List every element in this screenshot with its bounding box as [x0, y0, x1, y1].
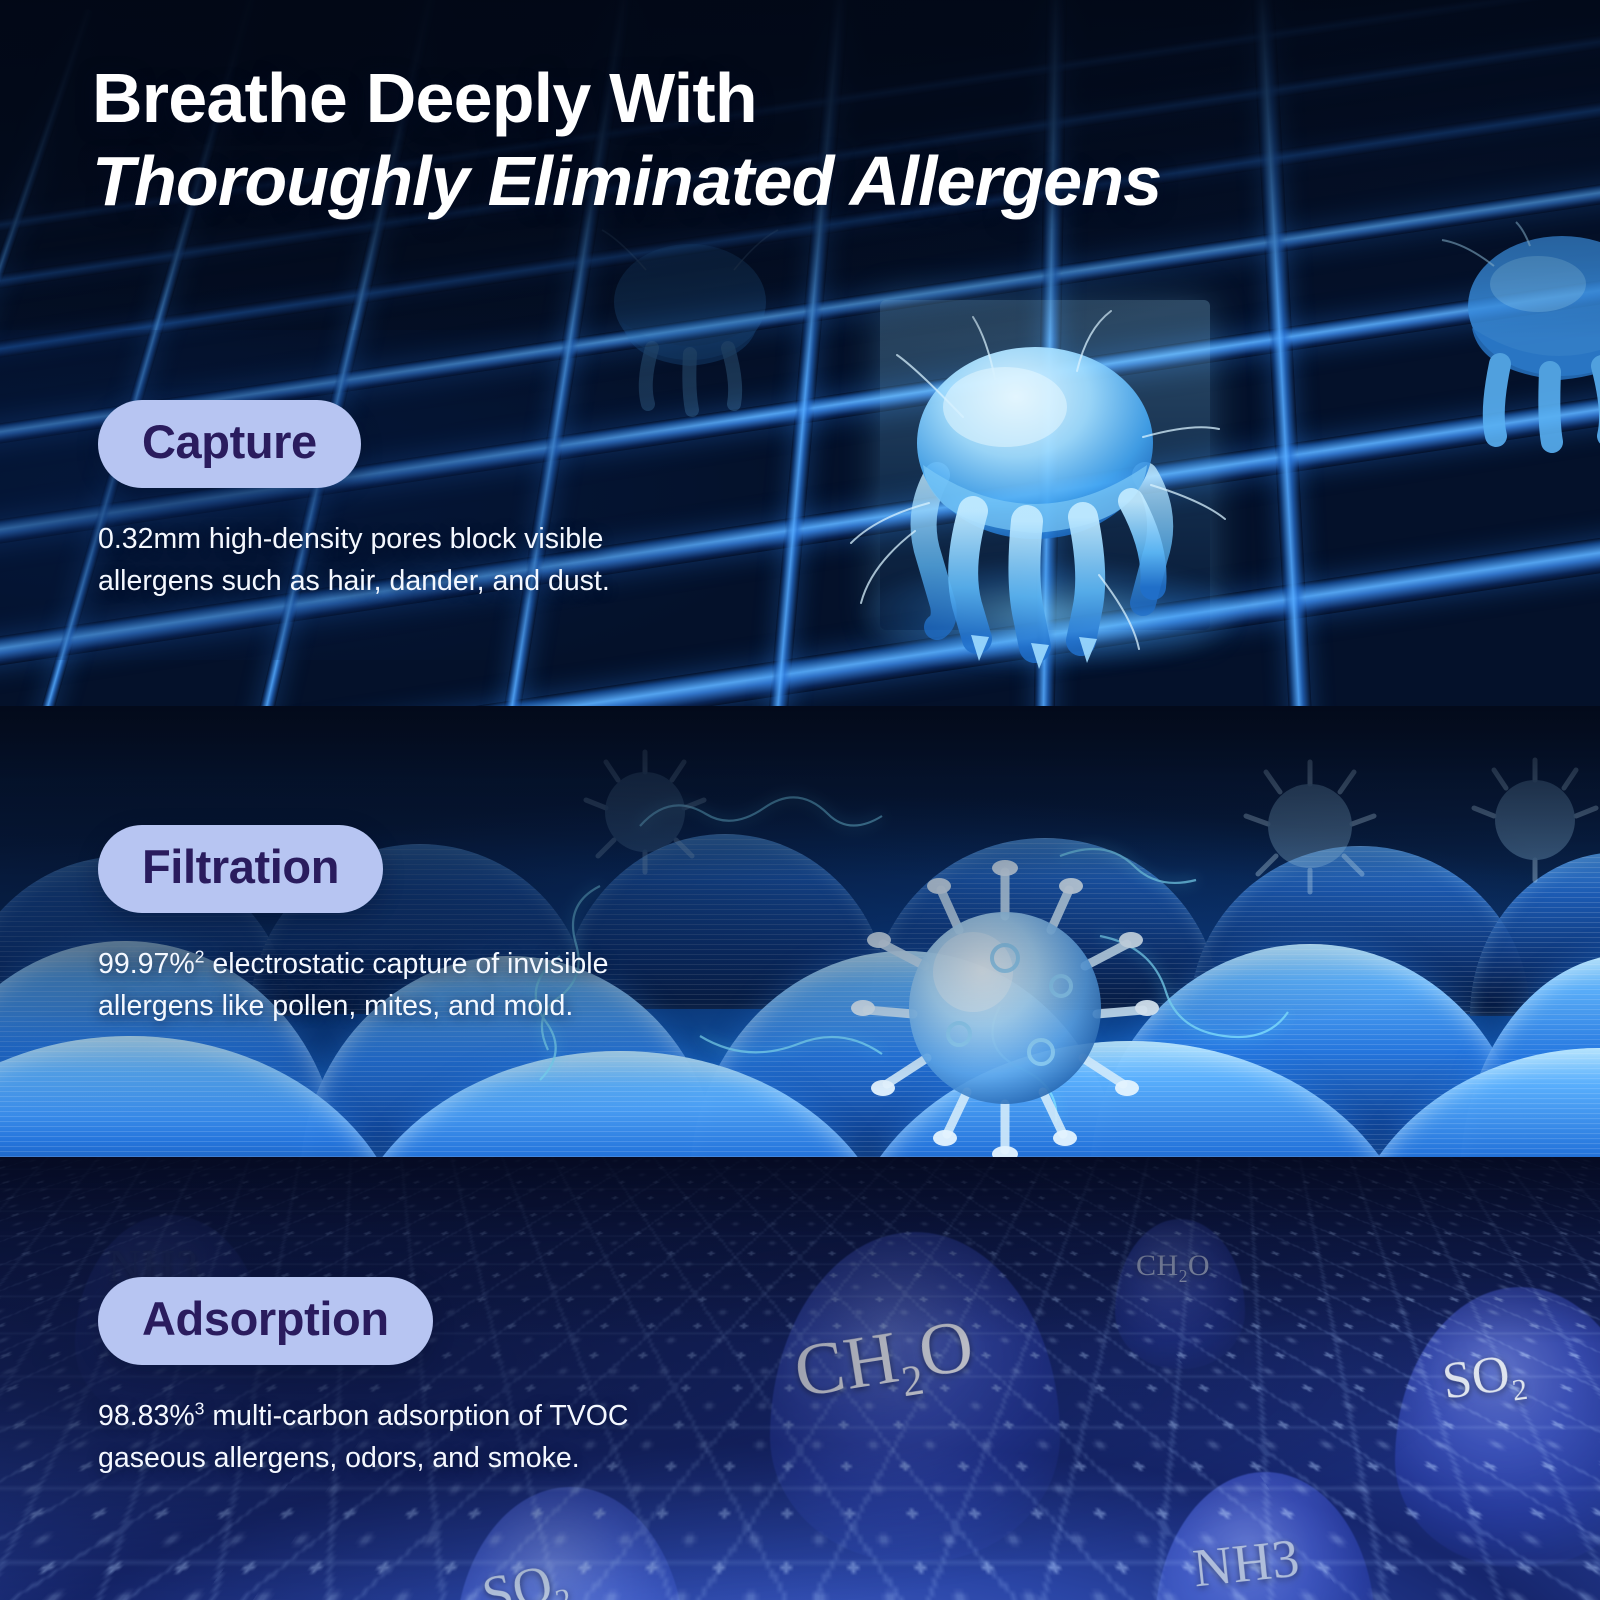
infographic-page: CH2O CH2O SO2 SO2 NH3 NH3 Breathe Deeply…: [0, 0, 1600, 1600]
description-filtration: 99.97%2 electrostatic capture of invisib…: [98, 944, 608, 1027]
description-adsorption-line1: multi-carbon adsorption of TVOC: [205, 1400, 629, 1432]
badge-adsorption: Adsorption: [98, 1277, 433, 1365]
description-filtration-line2: allergens like pollen, mites, and mold.: [98, 990, 573, 1022]
description-adsorption: 98.83%3 multi-carbon adsorption of TVOC …: [98, 1396, 629, 1479]
page-headline: Breathe Deeply With Thoroughly Eliminate…: [92, 62, 1512, 220]
description-capture: 0.32mm high-density pores block visible …: [98, 519, 610, 602]
headline-line-1: Breathe Deeply With: [92, 62, 1512, 134]
feature-capture: Capture 0.32mm high-density pores block …: [98, 400, 610, 602]
feature-filtration: Filtration 99.97%2 electrostatic capture…: [98, 825, 608, 1027]
description-capture-line1: 0.32mm high-density pores block visible: [98, 523, 603, 555]
badge-filtration: Filtration: [98, 825, 383, 913]
adsorption-value: 98.83%: [98, 1400, 195, 1432]
description-filtration-line1: electrostatic capture of invisible: [205, 948, 609, 980]
feature-adsorption: Adsorption 98.83%3 multi-carbon adsorpti…: [98, 1277, 629, 1479]
adsorption-footnote: 3: [195, 1399, 205, 1419]
filtration-footnote: 2: [195, 947, 205, 967]
filtration-value: 99.97%: [98, 948, 195, 980]
headline-line-2: Thoroughly Eliminated Allergens: [92, 142, 1512, 220]
badge-capture: Capture: [98, 400, 361, 488]
description-adsorption-line2: gaseous allergens, odors, and smoke.: [98, 1442, 580, 1474]
description-capture-line2: allergens such as hair, dander, and dust…: [98, 565, 610, 597]
